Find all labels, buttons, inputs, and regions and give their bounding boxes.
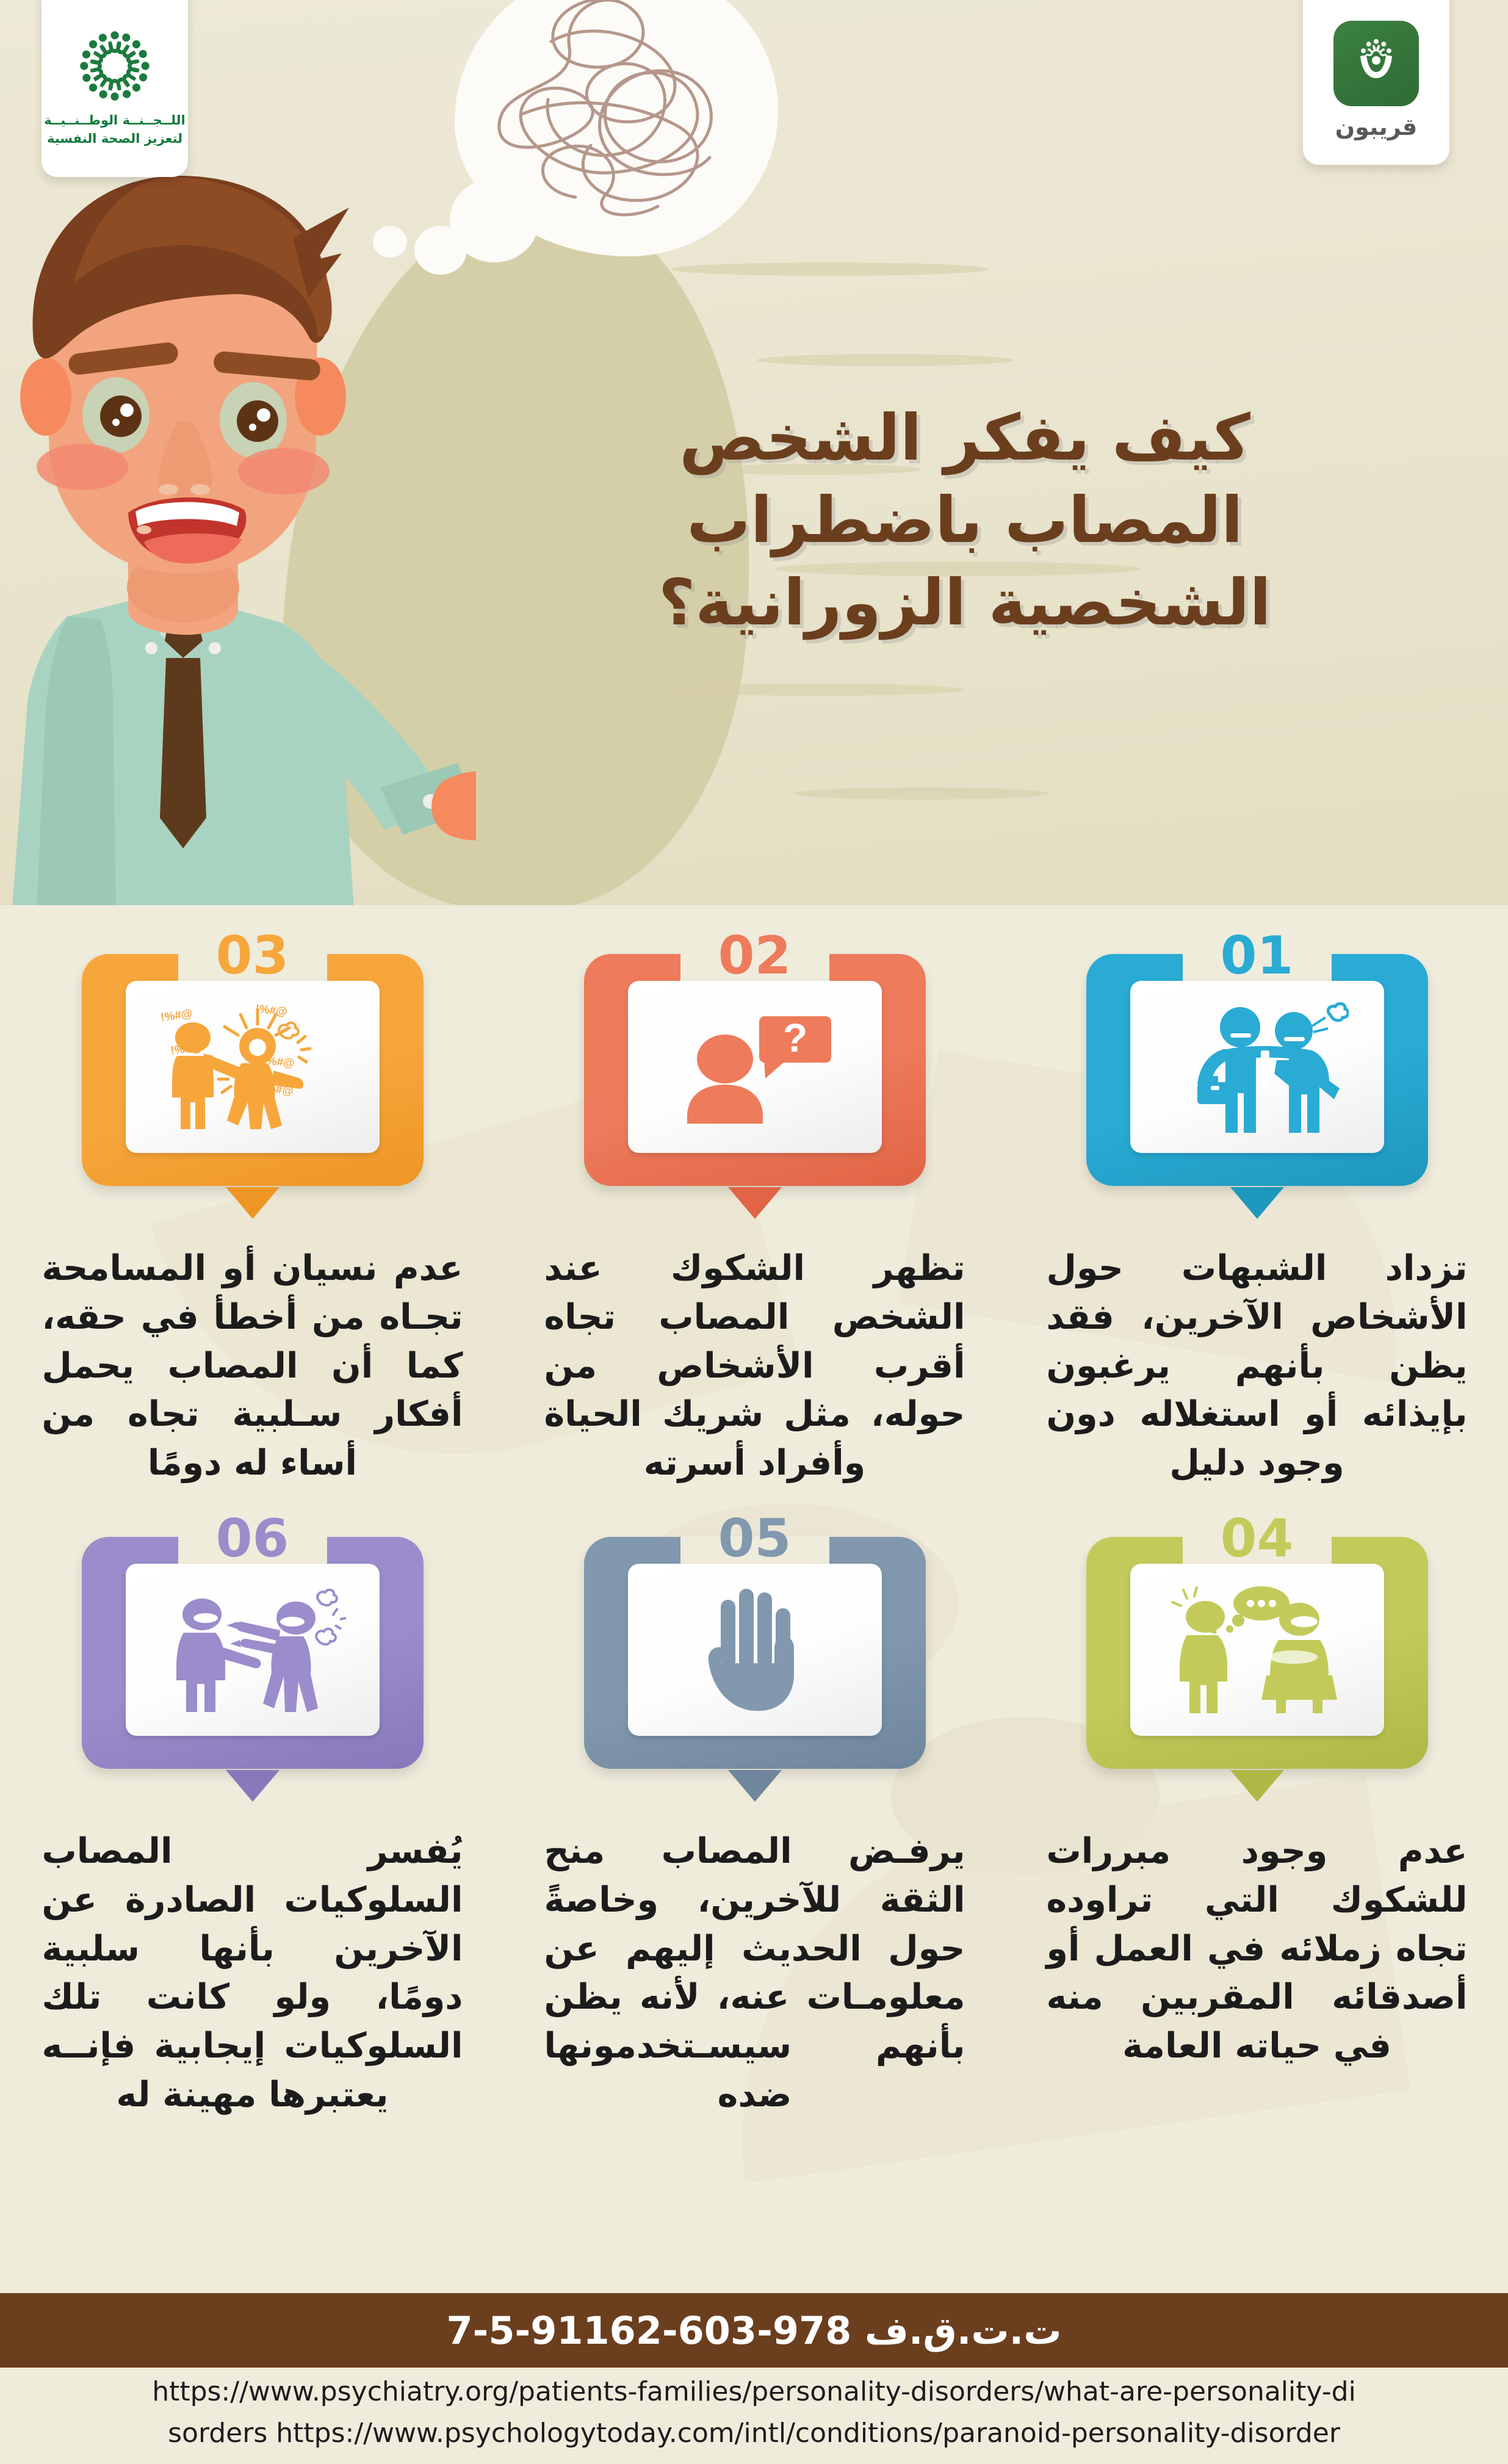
card-icon-panel: @#%! @#%! @#%! @#%! @#%!: [126, 981, 380, 1153]
card-06[interactable]: 06: [1, 1488, 503, 2120]
card-icon-panel: [1130, 1564, 1384, 1736]
isbn-bar: ت.ت.ق.ف 978-603-91162-5-7: [0, 2293, 1508, 2368]
references: https://www.psychiatry.org/patients-fami…: [0, 2371, 1508, 2454]
card-caption: يُفسر المصاب السلوكيات الصادرة عن الآخري…: [42, 1827, 463, 2120]
cards-section: 01: [0, 905, 1508, 2261]
title-line-3: الشخصية الزورانية؟: [532, 562, 1398, 644]
two-people-arguing-icon: [158, 1584, 347, 1715]
card-05[interactable]: 05: [503, 1488, 1006, 2120]
stop-hand-icon: [700, 1584, 810, 1715]
card-02[interactable]: 02 ?: [503, 905, 1006, 1488]
header-banner: كيف يفكر الشخص المصاب باضطراب الشخصية ال…: [0, 0, 1508, 905]
card-pointer: [1230, 1187, 1284, 1219]
isbn-text: ت.ت.ق.ف 978-603-91162-5-7: [446, 2308, 1061, 2353]
angry-person-shouting-icon: @#%! @#%! @#%! @#%! @#%!: [155, 1000, 350, 1134]
svg-text:@#%!: @#%!: [254, 1003, 287, 1019]
svg-text:?: ?: [782, 1015, 807, 1060]
qareeboon-app-icon: [1333, 21, 1419, 106]
card-caption: تزداد الشبهات حول الأشخاص الآخرين، فقد ي…: [1047, 1245, 1468, 1488]
cards-grid: 01: [0, 905, 1508, 2120]
card-frame: @#%! @#%! @#%! @#%! @#%!: [82, 954, 424, 1186]
card-pointer: [226, 1770, 280, 1802]
card-04[interactable]: 04: [1006, 1488, 1508, 2120]
two-colleagues-with-briefcase-icon: [1166, 1002, 1349, 1133]
worried-man-illustration: [0, 153, 476, 905]
person-with-question-bubble-icon: ?: [666, 1003, 843, 1131]
card-icon-panel: [628, 1564, 882, 1736]
reference-line-2: sorders https://www.psychologytoday.com/…: [18, 2413, 1490, 2454]
bg-streak: [757, 354, 1013, 366]
card-number: 05: [503, 1512, 1006, 1565]
card-icon-panel: ?: [628, 981, 882, 1153]
title-line-1: كيف يفكر الشخص: [532, 397, 1398, 479]
card-03[interactable]: 03: [1, 905, 503, 1488]
card-frame: [1086, 1537, 1428, 1769]
card-frame: ?: [584, 954, 926, 1186]
card-frame: [584, 1537, 926, 1769]
committee-name-line2: لتعزيز الصحة النفسية: [44, 129, 185, 148]
card-number: 04: [1006, 1512, 1508, 1565]
card-icon-panel: [1130, 981, 1384, 1153]
card-icon-panel: [126, 1564, 380, 1736]
card-pointer: [728, 1770, 782, 1802]
card-pointer: [226, 1187, 280, 1219]
card-number: 02: [503, 930, 1006, 982]
card-01[interactable]: 01: [1006, 905, 1508, 1488]
national-committee-logo[interactable]: اللــجــنــة الوطــنــيــة لتعزيز الصحة …: [41, 0, 188, 177]
card-caption: عدم وجود مبررات للشكوك التي تراوده تجاه …: [1047, 1827, 1468, 2071]
bg-streak: [671, 262, 989, 276]
page-title: كيف يفكر الشخص المصاب باضطراب الشخصية ال…: [532, 397, 1398, 645]
card-caption: يرفـض المصاب منح الثقة للآخرين، وخاصةً ح…: [544, 1827, 965, 2120]
committee-emblem-icon: [74, 26, 155, 106]
committee-name-line1: اللــجــنــة الوطــنــيــة: [44, 111, 185, 129]
qareeboon-logo[interactable]: قريبون: [1303, 0, 1449, 165]
qareeboon-label: قريبون: [1335, 114, 1418, 140]
suspicious-man-and-woman-icon: [1163, 1584, 1352, 1715]
svg-text:@#%!: @#%!: [159, 1007, 193, 1024]
card-number: 03: [1, 930, 503, 982]
card-number: 06: [1, 1512, 503, 1565]
title-line-2: المصاب باضطراب: [532, 479, 1398, 562]
card-pointer: [728, 1187, 782, 1219]
card-pointer: [1230, 1770, 1284, 1802]
tangled-scribble-icon: [478, 0, 752, 231]
bg-streak: [793, 787, 1050, 800]
reference-line-1: https://www.psychiatry.org/patients-fami…: [18, 2371, 1490, 2413]
card-number: 01: [1006, 930, 1508, 982]
card-caption: تظهر الشكوك عند الشخص المصاب تجاه أقرب ا…: [544, 1245, 965, 1488]
card-frame: [1086, 954, 1428, 1186]
svg-text:@#%!: @#%!: [170, 1041, 203, 1057]
card-frame: [82, 1537, 424, 1769]
card-caption: عدم نسيان أو المسامحة تجـاه من أخطأ في ح…: [42, 1245, 463, 1488]
